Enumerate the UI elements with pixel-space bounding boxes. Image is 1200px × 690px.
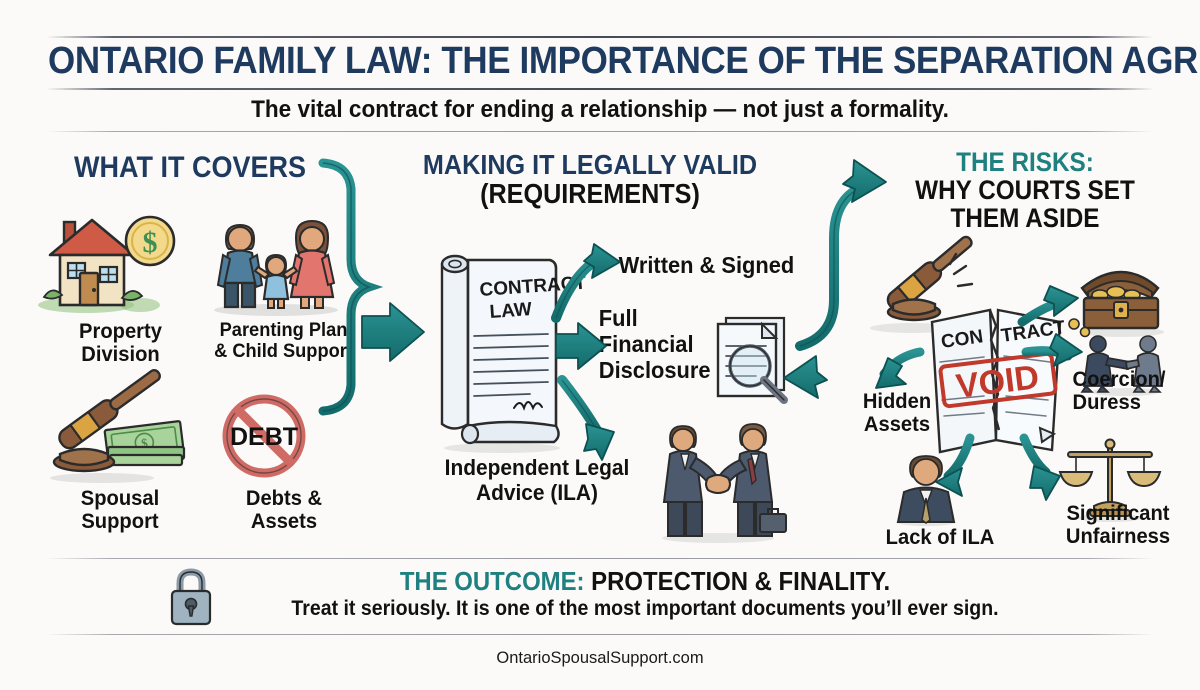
- item-label-line2: Division: [41, 344, 199, 367]
- fin-line2: Financial: [599, 332, 705, 358]
- item-label-line2: Support: [43, 511, 197, 534]
- treasure-chest-icon: [1068, 258, 1174, 338]
- family-parents-child-icon: [196, 205, 371, 317]
- outcome-headline: THE OUTCOME: PROTECTION & FINALITY.: [249, 566, 1040, 597]
- covers-item-spousal-support: $ Spousal Support: [40, 392, 200, 533]
- section-heading-the-risks: THE RISKS: WHY COURTS SET THEM ASIDE: [886, 148, 1165, 232]
- house-with-dollar-coin-icon: $: [38, 205, 203, 317]
- fin-line1: Full: [599, 306, 705, 332]
- unfair-line1: Significant: [1041, 502, 1195, 525]
- footer-site-url: OntarioSpousalSupport.com: [18, 648, 1182, 668]
- outcome-emphasis: PROTECTION & FINALITY.: [591, 566, 890, 596]
- risk-label-coercion-duress: Coercion/ Duress: [1073, 368, 1196, 414]
- debt-stamp-text: DEBT: [230, 423, 298, 451]
- divider-under-subtitle: [46, 131, 1154, 132]
- section-heading-risks-line3: THEM ASIDE: [886, 204, 1165, 232]
- item-label-line1: Property: [41, 321, 199, 344]
- ila-line1: Independent Legal: [437, 455, 637, 480]
- requirement-label-written-signed: Written & Signed: [619, 252, 795, 279]
- coercion-line2: Duress: [1073, 391, 1196, 414]
- requirement-label-independent-legal-advice: Independent Legal Advice (ILA): [437, 455, 637, 505]
- section-heading-risks-line1: THE RISKS:: [886, 148, 1165, 176]
- risk-label-lack-of-ila: Lack of ILA: [869, 526, 1011, 550]
- covers-item-parenting-plan: Parenting Plan & Child Support: [196, 205, 371, 362]
- divider-above-outcome: [46, 558, 1154, 559]
- item-label-line1: Parenting Plan: [200, 321, 368, 342]
- covers-item-property-division: $ Property Division: [38, 205, 203, 366]
- padlock-icon: [168, 566, 214, 628]
- page-subtitle: The vital contract for ending a relation…: [36, 96, 1164, 124]
- section-heading-what-it-covers: WHAT IT COVERS: [42, 152, 339, 183]
- divider-under-title: [46, 88, 1154, 90]
- section-heading-valid-line1: MAKING IT LEGALLY VALID: [415, 150, 766, 179]
- requirement-label-full-financial-disclosure: Full Financial Disclosure: [599, 306, 705, 383]
- no-debt-prohibition-icon: DEBT: [204, 392, 364, 484]
- section-heading-risks-line2: WHY COURTS SET: [886, 176, 1165, 204]
- hidden-line2: Assets: [847, 413, 947, 436]
- scroll-title-line2: LAW: [489, 299, 533, 323]
- arrow-to-hidden-assets: [876, 352, 920, 388]
- section-heading-valid-line2: (REQUIREMENTS): [415, 179, 766, 208]
- contract-law-scroll-icon: CONTRACT LAW: [418, 248, 578, 458]
- unfair-line2: Unfairness: [1041, 525, 1195, 548]
- infographic-canvas: ONTARIO FAMILY LAW: THE IMPORTANCE OF TH…: [0, 0, 1200, 690]
- hidden-line1: Hidden: [847, 390, 947, 413]
- outcome-body: Treat it seriously. It is one of the mos…: [245, 597, 1045, 621]
- risk-label-hidden-assets: Hidden Assets: [847, 390, 947, 436]
- ila-line2: Advice (ILA): [437, 480, 637, 505]
- fin-line3: Disclosure: [599, 358, 705, 384]
- item-label-line1: Debts &: [207, 488, 361, 511]
- page-title: ONTARIO FAMILY LAW: THE IMPORTANCE OF TH…: [48, 40, 1152, 83]
- risk-label-significant-unfairness: Significant Unfairness: [1041, 502, 1195, 548]
- gavel-with-money-icon: $: [40, 392, 200, 484]
- section-heading-making-it-legally-valid: MAKING IT LEGALLY VALID (REQUIREMENTS): [415, 150, 766, 208]
- single-person-icon: [888, 452, 964, 526]
- divider-top: [46, 36, 1154, 38]
- handshake-lawyers-icon: [648, 418, 788, 544]
- coercion-line1: Coercion/: [1073, 368, 1196, 391]
- divider-above-footer: [46, 634, 1154, 635]
- documents-magnifier-icon: [700, 312, 810, 412]
- covers-item-debts-assets: DEBT Debts & Assets: [204, 392, 364, 533]
- svg-text:$: $: [143, 226, 158, 259]
- item-label-line2: Assets: [207, 511, 361, 534]
- outcome-lead: THE OUTCOME:: [400, 566, 585, 596]
- item-label-line1: Spousal: [43, 488, 197, 511]
- item-label-line2: & Child Support: [200, 342, 368, 363]
